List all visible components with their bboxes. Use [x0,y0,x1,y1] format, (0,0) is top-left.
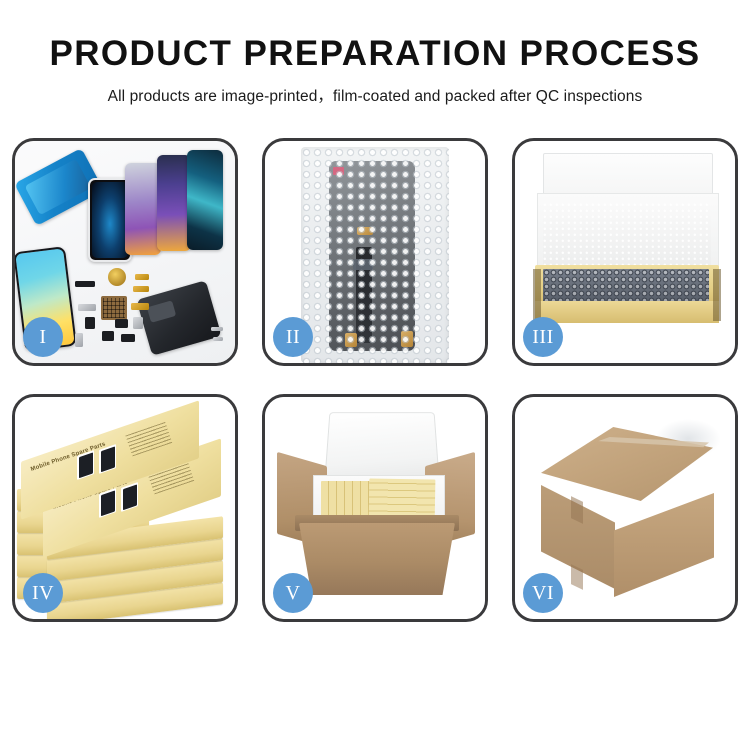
foam-lid-open [324,412,439,481]
part-charging-port [121,334,135,342]
phone-display-purple-orange [125,163,161,255]
part-tweezers [211,327,223,331]
gold-box-front-panel [535,301,719,323]
phone-display-teal [187,150,223,250]
step-badge-6: VI [523,573,563,613]
step-panel-1: I [12,138,238,366]
bubble-wrapped-contents [543,269,709,303]
phone-display-violet [157,155,191,251]
product-preparation-infographic: PRODUCT PREPARATION PROCESS All products… [0,0,750,750]
part-gold-flex-a [135,274,149,280]
part-camera-module [85,317,95,329]
part-speaker-mesh [75,281,95,287]
process-steps-grid: I II [12,138,738,622]
carton-right-face [614,493,714,597]
part-gold-flex-c [131,303,149,310]
page-title: PRODUCT PREPARATION PROCESS [0,36,750,73]
step-panel-5: V [262,394,488,622]
phone-backplate-dark [136,280,221,356]
step-badge-4: IV [23,573,63,613]
part-screwdriver [213,337,223,341]
carton-body [299,523,455,595]
step-panel-3: III [512,138,738,366]
part-gold-flex-b [133,286,149,292]
white-foam-pad [543,203,711,269]
step-panel-2: II [262,138,488,366]
part-connector-grid [101,296,127,320]
step-panel-6: VI [512,394,738,622]
step-panel-4: Mobile Phone Spare Parts Mobile Phone Sp… [12,394,238,622]
gold-box-side-right [713,269,721,321]
step-badge-1: I [23,317,63,357]
step-badge-3: III [523,317,563,357]
part-screw-set [75,333,83,347]
page-subtitle: All products are image-printed，film-coat… [0,84,750,106]
part-earpiece [102,331,114,341]
part-vibration-coil [108,268,126,286]
part-metal-bracket [78,304,96,311]
step-badge-2: II [273,317,313,357]
step-badge-5: V [273,573,313,613]
part-sim-tray [133,317,143,329]
bubble-wrap-bag [301,147,449,363]
gold-box-side-left [533,269,541,321]
header: PRODUCT PREPARATION PROCESS All products… [0,0,750,106]
bubble-texture [301,147,449,363]
part-button-flex [115,319,128,328]
